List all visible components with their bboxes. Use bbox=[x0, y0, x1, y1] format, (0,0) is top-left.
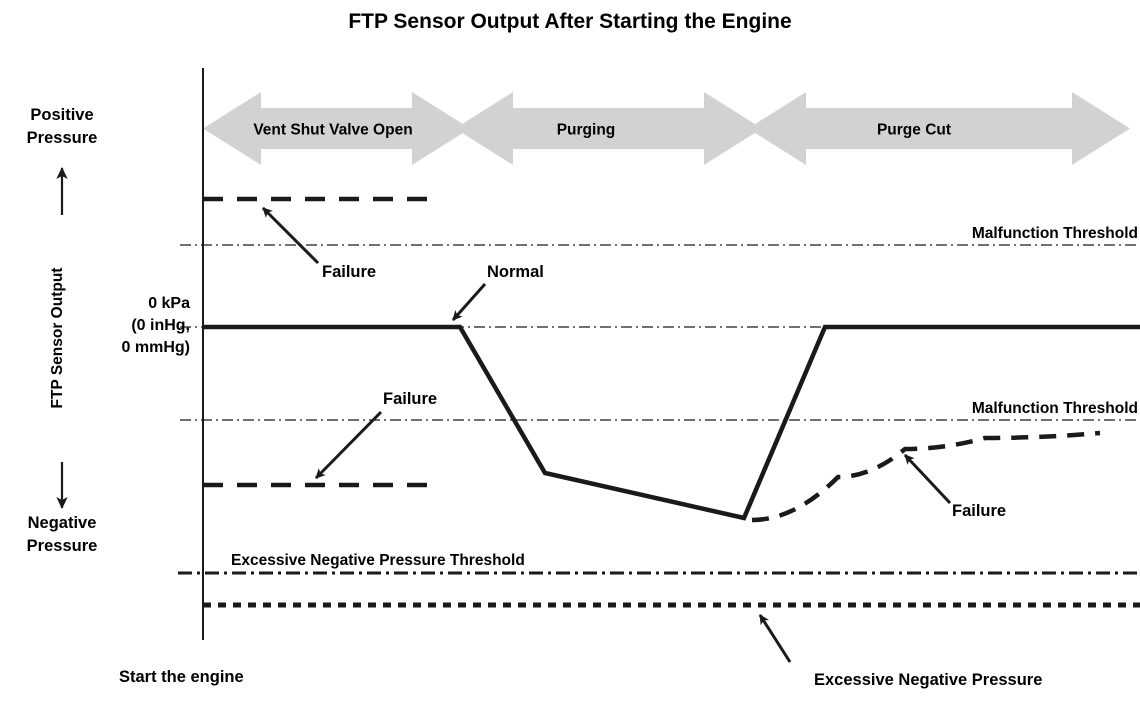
annotation-leader-failure-lower bbox=[316, 412, 381, 478]
annotation-label-failure-purge-cut: Failure bbox=[952, 502, 1006, 520]
annotations: FailureNormalFailureFailureExcessive Neg… bbox=[263, 208, 1042, 689]
ftp-sensor-diagram: FTP Sensor Output After Starting the Eng… bbox=[0, 0, 1140, 704]
threshold-label-excessive-negative: Excessive Negative Pressure Threshold bbox=[231, 552, 525, 569]
threshold-label-malfunction-lower: Malfunction Threshold bbox=[972, 400, 1138, 417]
annotation-leader-failure-purge-cut bbox=[905, 455, 950, 503]
series-line-0 bbox=[203, 327, 1140, 518]
positive-pressure-label-line2: Pressure bbox=[27, 129, 98, 147]
threshold-label-malfunction-upper: Malfunction Threshold bbox=[972, 225, 1138, 242]
zero-label-mmhg: 0 mmHg) bbox=[122, 339, 190, 356]
annotation-label-failure-upper: Failure bbox=[322, 263, 376, 281]
negative-pressure-label-line2: Pressure bbox=[27, 537, 98, 555]
annotation-label-excessive-negative-pressure: Excessive Negative Pressure bbox=[814, 671, 1042, 689]
zero-label-inhg: (0 inHg, bbox=[131, 317, 190, 334]
positive-pressure-label-line1: Positive bbox=[30, 106, 93, 124]
annotation-label-failure-lower: Failure bbox=[383, 390, 437, 408]
phase-banners: Vent Shut Valve OpenPurgingPurge Cut bbox=[203, 92, 1130, 165]
annotation-leader-excessive-negative-pressure bbox=[760, 615, 790, 662]
phase-label-0: Vent Shut Valve Open bbox=[253, 122, 412, 139]
page-title: FTP Sensor Output After Starting the Eng… bbox=[348, 10, 791, 33]
phase-label-1: Purging bbox=[557, 122, 616, 139]
annotation-leader-failure-upper bbox=[263, 208, 318, 263]
zero-label-kpa: 0 kPa bbox=[148, 295, 190, 312]
negative-pressure-label-line1: Negative bbox=[28, 514, 97, 532]
y-axis-title: FTP Sensor Output bbox=[49, 268, 66, 409]
diagram-canvas: FTP Sensor Output After Starting the Eng… bbox=[0, 0, 1140, 704]
annotation-label-normal: Normal bbox=[487, 263, 544, 281]
phase-label-2: Purge Cut bbox=[877, 122, 951, 139]
start-the-engine-label: Start the engine bbox=[119, 668, 244, 686]
annotation-leader-normal bbox=[453, 284, 485, 320]
